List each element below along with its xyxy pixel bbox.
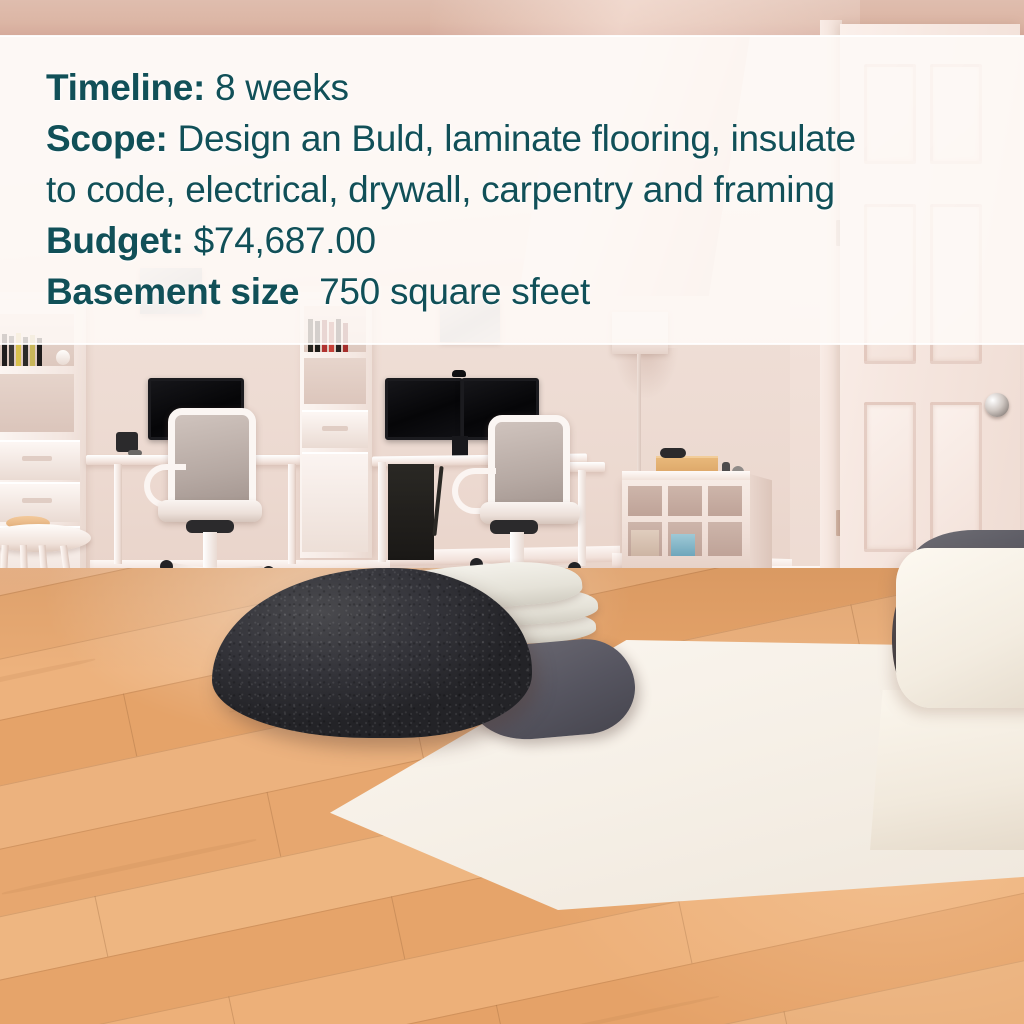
chair-post xyxy=(203,532,217,570)
monitor-right-a xyxy=(385,378,463,440)
scope-value-line2: to code, electrical, drywall, carpentry … xyxy=(46,169,835,210)
webcam xyxy=(452,370,466,377)
timeline-label: Timeline: xyxy=(46,67,205,108)
desk-speaker xyxy=(116,432,138,452)
spec-line-scope-cont: to code, electrical, drywall, carpentry … xyxy=(46,164,976,215)
floor-lamp-pole xyxy=(637,354,641,476)
desk-cables xyxy=(388,464,434,560)
shelf-vase xyxy=(56,350,70,365)
headphones xyxy=(660,448,686,458)
door-knob[interactable] xyxy=(985,393,1009,417)
drawer-handle[interactable] xyxy=(22,498,52,503)
desk-leg xyxy=(378,462,386,562)
cube-opening xyxy=(628,486,662,516)
cabinet-door[interactable] xyxy=(302,452,368,552)
chair-seat xyxy=(158,500,262,522)
monitor-stand xyxy=(452,436,468,456)
scope-value-line1: Design an Buld, laminate flooring, insul… xyxy=(168,118,856,159)
cube-opening xyxy=(708,486,742,516)
scope-label: Scope: xyxy=(46,118,168,159)
cube-storage-side xyxy=(750,474,772,580)
desk-leg xyxy=(288,464,296,564)
spec-line-scope: Scope: Design an Buld, laminate flooring… xyxy=(46,113,976,164)
budget-value: $74,687.00 xyxy=(184,220,376,261)
lamp-wall-shadow xyxy=(614,348,678,398)
overlay-top-edge xyxy=(0,35,1024,37)
ceiling-highlight xyxy=(430,0,860,40)
size-label: Basement size xyxy=(46,271,299,312)
drawer-handle[interactable] xyxy=(322,426,348,431)
monitor-screen xyxy=(388,381,460,437)
timeline-value: 8 weeks xyxy=(205,67,349,108)
spec-line-budget: Budget: $74,687.00 xyxy=(46,215,976,266)
shelf-cube xyxy=(304,358,366,404)
blue-bin xyxy=(671,534,695,556)
overlay-bottom-edge xyxy=(0,343,1024,345)
storage-basket xyxy=(631,530,659,556)
cube-storage-unit xyxy=(622,478,750,576)
budget-label: Budget: xyxy=(46,220,184,261)
cube-opening xyxy=(708,522,742,556)
spec-line-size: Basement size 750 square sfeet xyxy=(46,266,976,317)
cube-storage-top xyxy=(622,471,750,480)
door-panel xyxy=(864,402,916,552)
project-spec-text: Timeline: 8 weeks Scope: Design an Buld,… xyxy=(46,62,976,317)
project-card: Timeline: 8 weeks Scope: Design an Buld,… xyxy=(0,0,1024,1024)
drawer-handle[interactable] xyxy=(22,456,52,461)
size-value: 750 square sfeet xyxy=(299,271,590,312)
shelf-cube xyxy=(0,374,74,432)
floor-cushion xyxy=(896,548,1024,708)
spec-line-timeline: Timeline: 8 weeks xyxy=(46,62,976,113)
floor-mattress xyxy=(870,690,1024,850)
desk-leg xyxy=(114,464,122,564)
cube-opening xyxy=(668,486,702,516)
